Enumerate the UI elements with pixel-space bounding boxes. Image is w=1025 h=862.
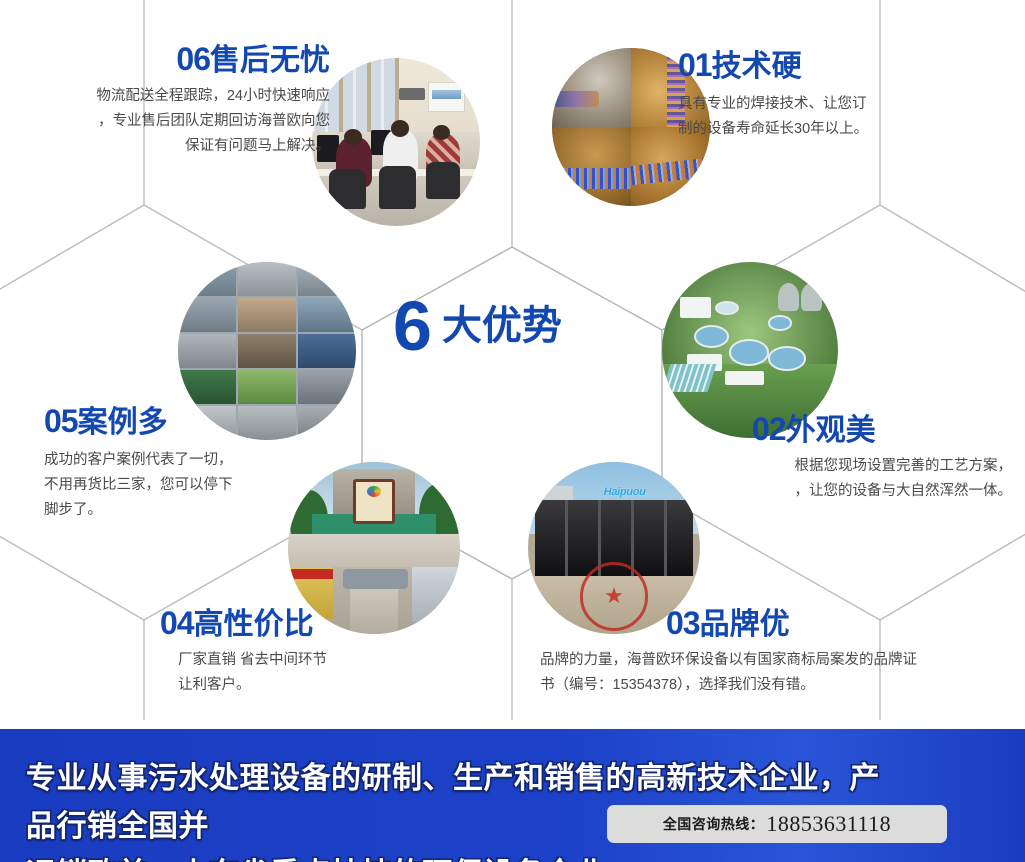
feature-02: 02外观美 根据您现场设置完善的工艺方案， ，让您的设备与大自然浑然一体。 xyxy=(690,412,1012,504)
feature-05-label: 案例多 xyxy=(78,406,168,439)
center-number: 6 xyxy=(393,291,432,361)
feature-06-label: 售后无忧 xyxy=(210,44,330,77)
hotline-box[interactable]: 全国咨询热线： 18853631118 xyxy=(607,805,947,843)
feature-01-title: 01技术硬 xyxy=(678,48,1008,84)
feature-02-number: 02 xyxy=(752,411,786,447)
feature-01-desc: 具有专业的焊接技术、让您订 制的设备寿命延长30年以上。 xyxy=(678,92,1008,142)
feature-02-label: 外观美 xyxy=(786,414,876,447)
feature-04-title: 04高性价比 xyxy=(160,606,460,642)
feature-04-desc: 厂家直销 省去中间环节 让利客户。 xyxy=(160,648,460,698)
feature-01: 01技术硬 具有专业的焊接技术、让您订 制的设备寿命延长30年以上。 xyxy=(678,48,1008,142)
feature-04: 04高性价比 厂家直销 省去中间环节 让利客户。 xyxy=(160,606,460,698)
feature-02-title: 02外观美 xyxy=(690,412,1012,448)
feature-03-label: 品牌优 xyxy=(700,608,790,641)
feature-01-label: 技术硬 xyxy=(712,50,802,83)
hotline-number: 18853631118 xyxy=(766,811,891,837)
feature-06-title: 06售后无忧 xyxy=(10,42,330,78)
feature-06-number: 06 xyxy=(176,41,210,77)
office-team-photo xyxy=(312,58,480,226)
feature-05-number: 05 xyxy=(44,403,78,439)
feature-05-title: 05案例多 xyxy=(44,404,344,440)
feature-01-number: 01 xyxy=(678,47,712,83)
hotline-label: 全国咨询热线： xyxy=(663,814,765,834)
feature-03-desc: 品牌的力量，海普欧环保设备以有国家商标局案发的品牌证 书（编号：15354378… xyxy=(540,648,1020,698)
haipuou-logo: Haipuou xyxy=(604,486,662,505)
feature-04-label: 高性价比 xyxy=(194,608,314,641)
feature-06: 06售后无忧 物流配送全程跟踪，24小时快速响应 ，专业售后团队定期回访海普欧向… xyxy=(10,42,330,159)
feature-03: 03品牌优 品牌的力量，海普欧环保设备以有国家商标局案发的品牌证 书（编号：15… xyxy=(540,606,1020,698)
banner-line-2: 远销欧美，山东省重点扶持的环保设备企业。 xyxy=(26,851,906,862)
feature-06-desc: 物流配送全程跟踪，24小时快速响应 ，专业售后团队定期回访海普欧向您 保证有问题… xyxy=(10,84,330,159)
feature-02-desc: 根据您现场设置完善的工艺方案， ，让您的设备与大自然浑然一体。 xyxy=(690,454,1012,504)
feature-03-title: 03品牌优 xyxy=(540,606,1020,642)
center-text: 大优势 xyxy=(442,302,562,350)
feature-04-number: 04 xyxy=(160,605,194,641)
feature-03-number: 03 xyxy=(666,605,700,641)
center-hex-label: 6 大优势 xyxy=(393,288,653,364)
advantages-infographic: 06售后无忧 物流配送全程跟踪，24小时快速响应 ，专业售后团队定期回访海普欧向… xyxy=(0,0,1025,862)
